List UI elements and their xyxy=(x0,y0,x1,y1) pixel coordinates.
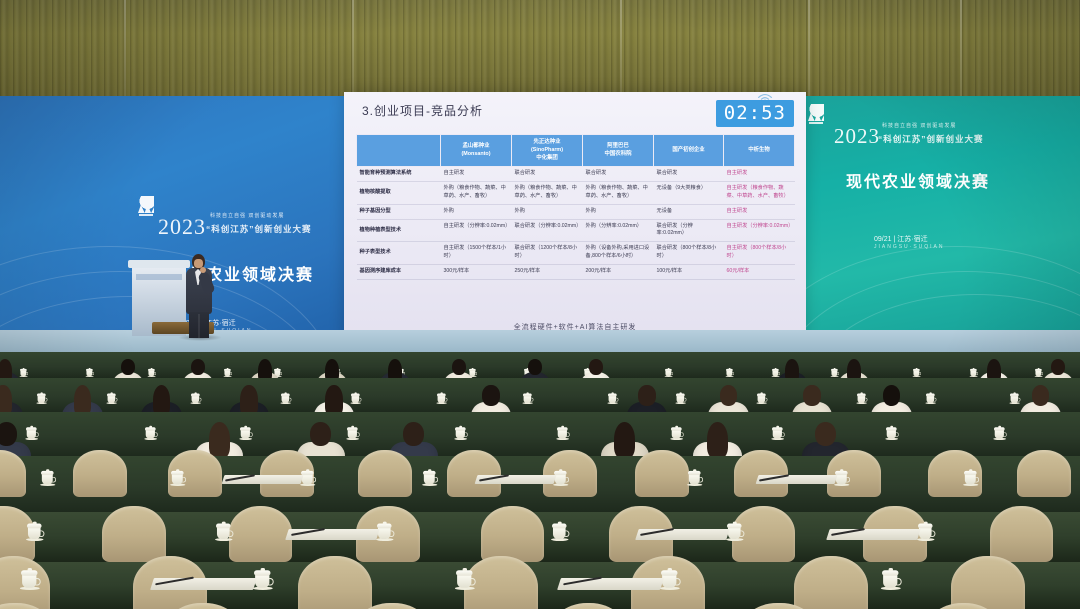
chair xyxy=(447,450,501,497)
cell-r1-c1: 外购（粮食作物、蔬菜、中草药、水产、畜牧） xyxy=(512,182,583,205)
notepad xyxy=(150,578,257,590)
chair xyxy=(635,450,689,497)
banner-date-value-right: 09/21 xyxy=(874,236,892,243)
cell-r4-c0: 自主研发（1500个样本/1小时） xyxy=(441,242,512,265)
cell-r3-c3: 联合研发（分辨率:0.02mm） xyxy=(654,219,724,242)
teacup xyxy=(970,368,977,377)
teacup xyxy=(191,393,200,405)
teacup xyxy=(86,368,93,377)
table-row: 植物种植表型技术自主研发（分辨率:0.02mm）联合研发（分辨率:0.02mm）… xyxy=(357,219,795,242)
cell-r2-c4: 自主研发 xyxy=(724,204,795,219)
teacup xyxy=(676,393,685,405)
chair xyxy=(951,556,1025,609)
chair xyxy=(229,506,293,562)
row-label: 种子表型技术 xyxy=(357,242,441,265)
teacup xyxy=(216,522,232,541)
teacup xyxy=(1010,393,1019,405)
teacup xyxy=(21,568,39,590)
col-header-4: 中析生物 xyxy=(724,135,795,167)
teacup xyxy=(913,368,920,377)
row-label: 种子基因分型 xyxy=(357,204,441,219)
banner-year-left: 2023 xyxy=(158,214,206,240)
row-label: 基因测序建库成本 xyxy=(357,264,441,279)
cell-r5-c3: 100元/样本 xyxy=(654,264,724,279)
podium-top xyxy=(128,260,190,268)
col-header-1: 先正达种业(SinoPharm)中化集团 xyxy=(512,135,583,167)
cell-r0-c4: 自主研发 xyxy=(724,167,795,182)
cell-r4-c2: 外购（设备外购,采用进口设备,800个样本/6小时） xyxy=(583,242,654,265)
chair xyxy=(794,556,868,609)
cell-r5-c1: 250元/样本 xyxy=(512,264,583,279)
cell-r1-c0: 外购（粮食作物、蔬菜、中草药、水产、畜牧） xyxy=(441,182,512,205)
teacup xyxy=(835,469,848,486)
teacup xyxy=(148,368,155,377)
presenter xyxy=(184,254,214,338)
cell-r4-c1: 联合研发（1200个样本/8小时） xyxy=(512,242,583,265)
teacup xyxy=(423,469,436,486)
row-label: 植物种植表型技术 xyxy=(357,219,441,242)
countdown-timer: 02:53 xyxy=(716,100,794,127)
cell-r3-c1: 联合研发（分辨率:0.02mm） xyxy=(512,219,583,242)
banner-divider-right: | xyxy=(893,236,895,243)
teacup xyxy=(886,426,897,440)
competitor-analysis-table: 孟山都种业(Monsanto) 先正达种业(SinoPharm)中化集团 阿里巴… xyxy=(356,134,795,280)
chair xyxy=(543,450,597,497)
cell-r0-c2: 联合研发 xyxy=(583,167,654,182)
teacup xyxy=(772,426,783,440)
teacup xyxy=(224,368,231,377)
cell-r4-c4: 自主研发（800个样本/8小时） xyxy=(724,242,795,265)
col-header-3: 国产初创企业 xyxy=(654,135,724,167)
teacup xyxy=(20,368,27,377)
table-row: 种子表型技术自主研发（1500个样本/1小时）联合研发（1200个样本/8小时）… xyxy=(357,242,795,265)
banner-date-right: 09/21 | 江苏·宿迁 JIANGSU·SUQIAN xyxy=(874,234,945,250)
cell-r2-c1: 外购 xyxy=(512,204,583,219)
cell-r5-c2: 200元/样本 xyxy=(583,264,654,279)
wood-wall xyxy=(0,0,1080,96)
teacup xyxy=(726,368,733,377)
table-row: 基因测序建库成本300元/样本250元/样本200元/样本100元/样本60元/… xyxy=(357,264,795,279)
teacup xyxy=(964,469,977,486)
teacup xyxy=(727,522,743,541)
teacup xyxy=(301,469,314,486)
notepad xyxy=(557,578,664,590)
cell-r2-c0: 外购 xyxy=(441,204,512,219)
teacup xyxy=(554,469,567,486)
cell-r0-c1: 联合研发 xyxy=(512,167,583,182)
cell-r3-c0: 自主研发（分辨率:0.02mm） xyxy=(441,219,512,242)
conference-table xyxy=(0,412,1080,456)
teacup xyxy=(347,426,358,440)
cell-r0-c0: 自主研发 xyxy=(441,167,512,182)
table-corner-header xyxy=(357,135,441,167)
cell-r0-c3: 联合研发 xyxy=(654,167,724,182)
row-label: 植物核酸提取 xyxy=(357,182,441,205)
teacup xyxy=(37,393,46,405)
teacup xyxy=(145,426,156,440)
banner-title-left: “科创江苏”创新创业大赛 xyxy=(206,223,312,235)
teacup xyxy=(608,393,617,405)
banner-right: 2023 科技自立自强 双创驱动发展 “科创江苏”创新创业大赛 现代农业领域决赛… xyxy=(806,96,1080,358)
projected-slide: 3.创业项目-竞品分析 02:53 孟山都种业(Monsanto) 先正达种业(… xyxy=(344,92,806,340)
teacup xyxy=(27,522,43,541)
cell-r3-c4: 自主研发（分辨率:0.02mm） xyxy=(724,219,795,242)
cell-r5-c4: 60元/样本 xyxy=(724,264,795,279)
teacup xyxy=(557,426,568,440)
association-logo-left xyxy=(138,196,154,216)
banner-year-right: 2023 xyxy=(834,124,880,149)
banner-title-right: “科创江苏”创新创业大赛 xyxy=(878,133,984,145)
chair xyxy=(102,506,166,562)
association-logo-right xyxy=(808,104,824,124)
chair xyxy=(298,556,372,609)
cell-r5-c0: 300元/样本 xyxy=(441,264,512,279)
banner-slogan-right: 科技自立自强 双创驱动发展 xyxy=(882,122,956,129)
banner-place-right: 江苏·宿迁 xyxy=(897,236,927,243)
teacup xyxy=(41,469,54,486)
cell-r4-c3: 联合研发（800个样本/8小时） xyxy=(654,242,724,265)
teacup xyxy=(107,393,116,405)
teacup xyxy=(377,522,393,541)
teacup xyxy=(665,368,672,377)
teacup xyxy=(882,568,900,590)
row-label: 智能育种预测算法系统 xyxy=(357,167,441,182)
cell-r1-c3: 无设备（9大类粮食） xyxy=(654,182,724,205)
teacup xyxy=(437,393,446,405)
cell-r3-c2: 外购（分辨率:0.02mm） xyxy=(583,219,654,242)
teacup xyxy=(455,426,466,440)
chair xyxy=(990,506,1054,562)
banner-slogan-left: 科技自立自强 双创驱动发展 xyxy=(210,212,284,219)
cell-r1-c2: 外购（粮食作物、蔬菜、中草药、水产、畜牧） xyxy=(583,182,654,205)
teacup xyxy=(254,568,272,590)
conference-hall-scene: 2023 科技自立自强 双创驱动发展 “科创江苏”创新创业大赛 现代农业领域决赛… xyxy=(0,0,1080,609)
banner-place-en-right: JIANGSU·SUQIAN xyxy=(874,244,945,250)
teacup xyxy=(281,393,290,405)
teacup xyxy=(831,368,838,377)
chair xyxy=(481,506,545,562)
cell-r1-c4: 自主研发（粮食作物、蔬菜、中草药、水产、畜牧） xyxy=(724,182,795,205)
chair xyxy=(734,450,788,497)
cell-r2-c2: 外购 xyxy=(583,204,654,219)
slide-title: 3.创业项目-竞品分析 xyxy=(362,102,483,119)
teacup xyxy=(688,469,701,486)
col-header-0: 孟山都种业(Monsanto) xyxy=(441,135,512,167)
teacup xyxy=(994,426,1005,440)
teacup xyxy=(456,568,474,590)
chair xyxy=(73,450,127,497)
teacup xyxy=(918,522,934,541)
chair xyxy=(358,450,412,497)
teacup xyxy=(926,393,935,405)
teacup xyxy=(171,469,184,486)
audience-hall xyxy=(0,352,1080,609)
teacup xyxy=(757,393,766,405)
teacup xyxy=(661,568,679,590)
teacup xyxy=(671,426,682,440)
teacup xyxy=(552,522,568,541)
table-row: 植物核酸提取外购（粮食作物、蔬菜、中草药、水产、畜牧）外购（粮食作物、蔬菜、中草… xyxy=(357,182,795,205)
banner-subtitle-right: 现代农业领域决赛 xyxy=(846,168,990,192)
table-header-row: 孟山都种业(Monsanto) 先正达种业(SinoPharm)中化集团 阿里巴… xyxy=(357,135,795,167)
col-header-2: 阿里巴巴中国农科院 xyxy=(583,135,654,167)
table-row: 智能育种预测算法系统自主研发联合研发联合研发联合研发自主研发 xyxy=(357,167,795,182)
cell-r2-c3: 无设备 xyxy=(654,204,724,219)
teacup xyxy=(857,393,866,405)
teacup xyxy=(523,393,532,405)
chair xyxy=(1017,450,1071,497)
table-row: 种子基因分型外购外购外购无设备自主研发 xyxy=(357,204,795,219)
